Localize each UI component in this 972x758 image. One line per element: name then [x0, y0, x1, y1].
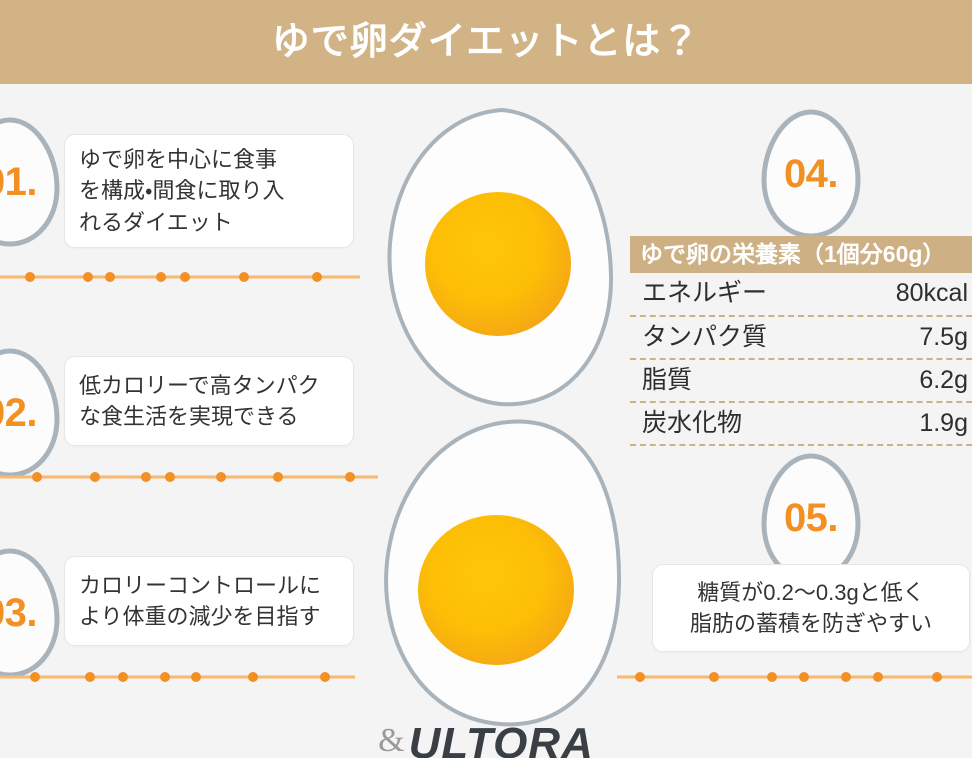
- page-title: ゆで卵ダイエットとは？: [272, 23, 701, 61]
- divider-line-02: [0, 470, 378, 484]
- nutrition-label: 炭水化物: [642, 405, 742, 441]
- divider-line-01: [0, 270, 360, 284]
- nutrition-label: 脂質: [642, 362, 692, 398]
- header-band: ゆで卵ダイエットとは？: [0, 0, 972, 84]
- infographic-body: 01. ゆで卵を中心に食事 を構成・間食に取り入 れるダイエット 02. 低カロ…: [0, 84, 972, 758]
- fact-badge-03: 03.: [0, 547, 64, 679]
- fact-badge-01: 01.: [0, 116, 64, 248]
- fact-badge-number-03: 03.: [0, 547, 64, 679]
- fact-card-02: 低カロリーで高タンパク な食生活を実現できる: [64, 356, 354, 446]
- nutrition-row: エネルギー 80kcal: [630, 273, 972, 316]
- nutrition-value: 1.9g: [919, 405, 968, 441]
- fact-card-text-03: カロリーコントロールに より体重の減少を目指す: [65, 570, 335, 632]
- nutrition-row: 炭水化物 1.9g: [630, 403, 972, 446]
- nutrition-value: 80kcal: [896, 275, 968, 311]
- fact-badge-02: 02.: [0, 347, 64, 479]
- fact-badge-04: 04.: [757, 108, 865, 240]
- nutrition-label: エネルギー: [642, 275, 767, 311]
- nutrition-row: タンパク質 7.5g: [630, 317, 972, 360]
- boiled-egg-bottom-illustration: [378, 414, 622, 734]
- brand-name: ULTORA: [409, 724, 594, 758]
- nutrition-table-header: ゆで卵の栄養素（1個分60g）: [630, 236, 972, 273]
- fact-card-03: カロリーコントロールに より体重の減少を目指す: [64, 556, 354, 646]
- fact-card-text-02: 低カロリーで高タンパク な食生活を実現できる: [65, 370, 334, 432]
- brand-ampersand: &: [378, 724, 404, 758]
- nutrition-label: タンパク質: [642, 319, 767, 355]
- fact-card-01: ゆで卵を中心に食事 を構成・間食に取り入 れるダイエット: [64, 134, 354, 248]
- fact-badge-number-04: 04.: [757, 108, 865, 240]
- nutrition-table: ゆで卵の栄養素（1個分60g） エネルギー 80kcal タンパク質 7.5g …: [630, 236, 972, 446]
- boiled-egg-top-illustration: [382, 104, 618, 414]
- fact-badge-number-01: 01.: [0, 116, 64, 248]
- divider-line-03: [0, 670, 355, 684]
- nutrition-value: 7.5g: [919, 319, 968, 355]
- nutrition-row: 脂質 6.2g: [630, 360, 972, 403]
- fact-badge-number-02: 02.: [0, 347, 64, 479]
- nutrition-value: 6.2g: [919, 362, 968, 398]
- fact-card-text-01: ゆで卵を中心に食事 を構成・間食に取り入 れるダイエット: [65, 144, 298, 238]
- fact-card-text-05: 糖質が0.2〜0.3gと低く 脂肪の蓄積を防ぎやすい: [676, 577, 946, 639]
- divider-line-05: [617, 670, 972, 684]
- fact-card-05: 糖質が0.2〜0.3gと低く 脂肪の蓄積を防ぎやすい: [652, 564, 970, 652]
- brand-logo: & ULTORA: [0, 724, 972, 758]
